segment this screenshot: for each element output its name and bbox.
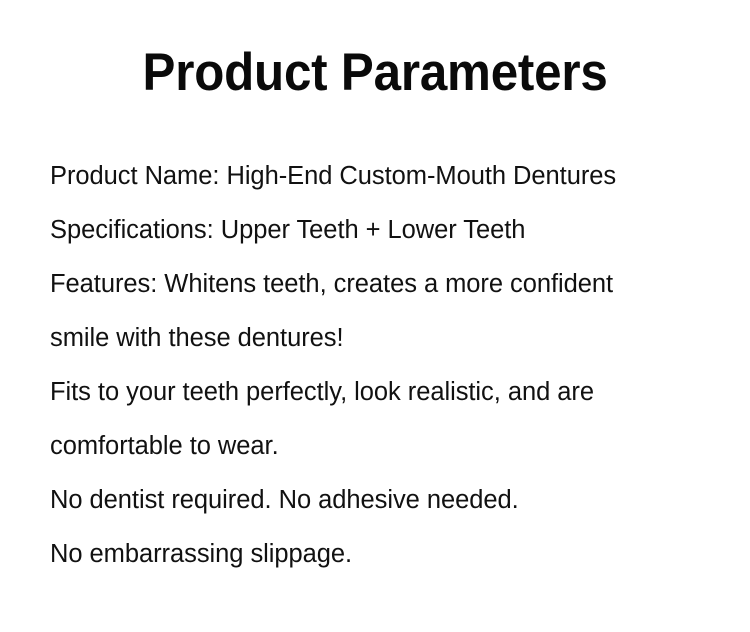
parameter-line-features-2: smile with these dentures!	[50, 311, 710, 365]
parameter-line-product-name: Product Name: High-End Custom-Mouth Dent…	[50, 149, 710, 203]
parameter-line-fit-1: Fits to your teeth perfectly, look reali…	[50, 365, 710, 419]
product-parameters-page: Product Parameters Product Name: High-En…	[0, 0, 750, 632]
product-parameters-text-block: Product Name: High-End Custom-Mouth Dent…	[50, 149, 710, 581]
page-title-block: Product Parameters	[0, 44, 750, 102]
parameter-line-features-1: Features: Whitens teeth, creates a more …	[50, 257, 710, 311]
parameter-line-no-slippage: No embarrassing slippage.	[50, 527, 710, 581]
parameter-line-specifications: Specifications: Upper Teeth + Lower Teet…	[50, 203, 710, 257]
page-title: Product Parameters	[142, 44, 607, 102]
parameter-line-no-dentist: No dentist required. No adhesive needed.	[50, 473, 710, 527]
parameter-line-fit-2: comfortable to wear.	[50, 419, 710, 473]
